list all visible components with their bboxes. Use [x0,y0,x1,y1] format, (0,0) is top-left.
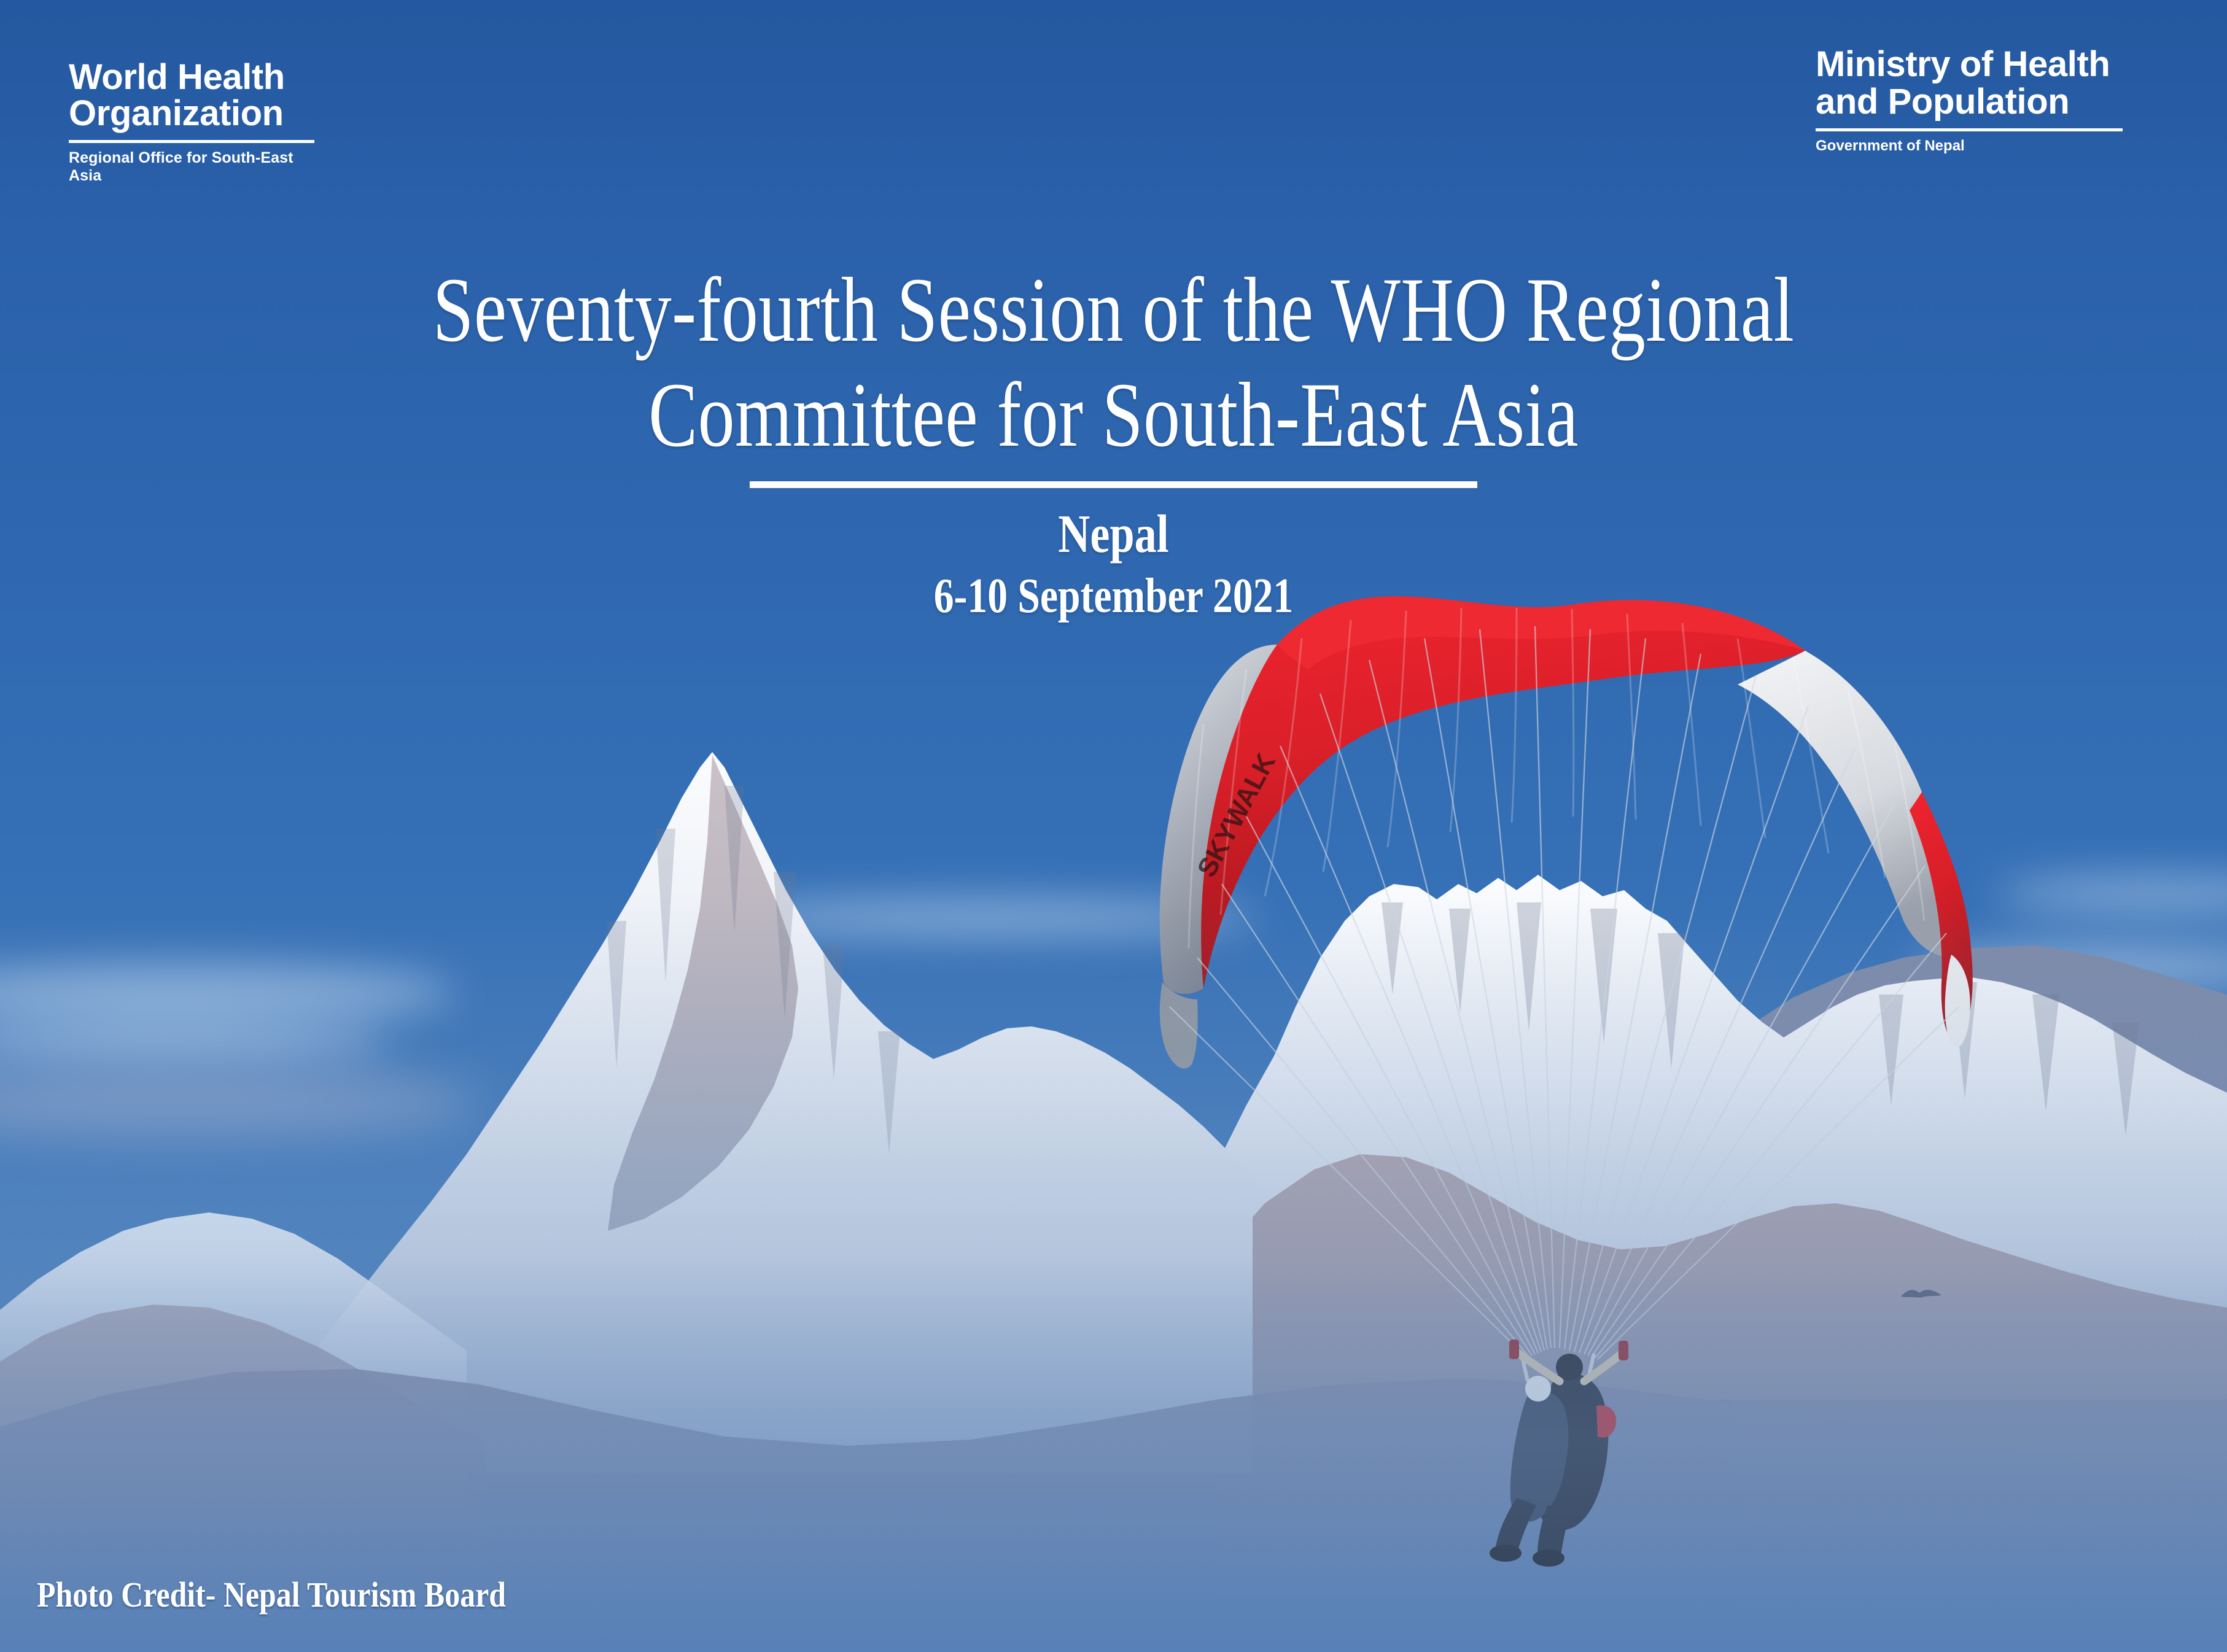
title-block: Seventy-fourth Session of the WHO Region… [0,258,2227,622]
bird [1897,1283,1946,1308]
page-title: Seventy-fourth Session of the WHO Region… [223,258,2005,468]
ministry-logo-line2: and Population [1816,83,2135,120]
bird-silhouette [1901,1290,1941,1298]
ministry-logo-rule [1816,128,2123,131]
who-logo: World Health Organization Regional Offic… [69,59,327,185]
who-logo-line2: Organization [69,95,327,131]
event-dates: 6-10 September 2021 [200,570,2026,622]
who-logo-subtitle: Regional Office for South-East Asia [69,149,327,185]
ministry-logo: Ministry of Health and Population Govern… [1816,45,2135,155]
mountain-range [0,0,2227,1652]
event-location: Nepal [200,506,2026,563]
who-logo-line1: World Health [69,59,327,95]
who-logo-rule [69,140,314,143]
title-divider [750,481,1477,488]
photo-credit: Photo Credit- Nepal Tourism Board [37,1574,506,1615]
ministry-logo-subtitle: Government of Nepal [1816,138,2135,155]
poster-canvas: SKYWALK [0,0,2227,1652]
ministry-logo-line1: Ministry of Health [1816,45,2135,83]
